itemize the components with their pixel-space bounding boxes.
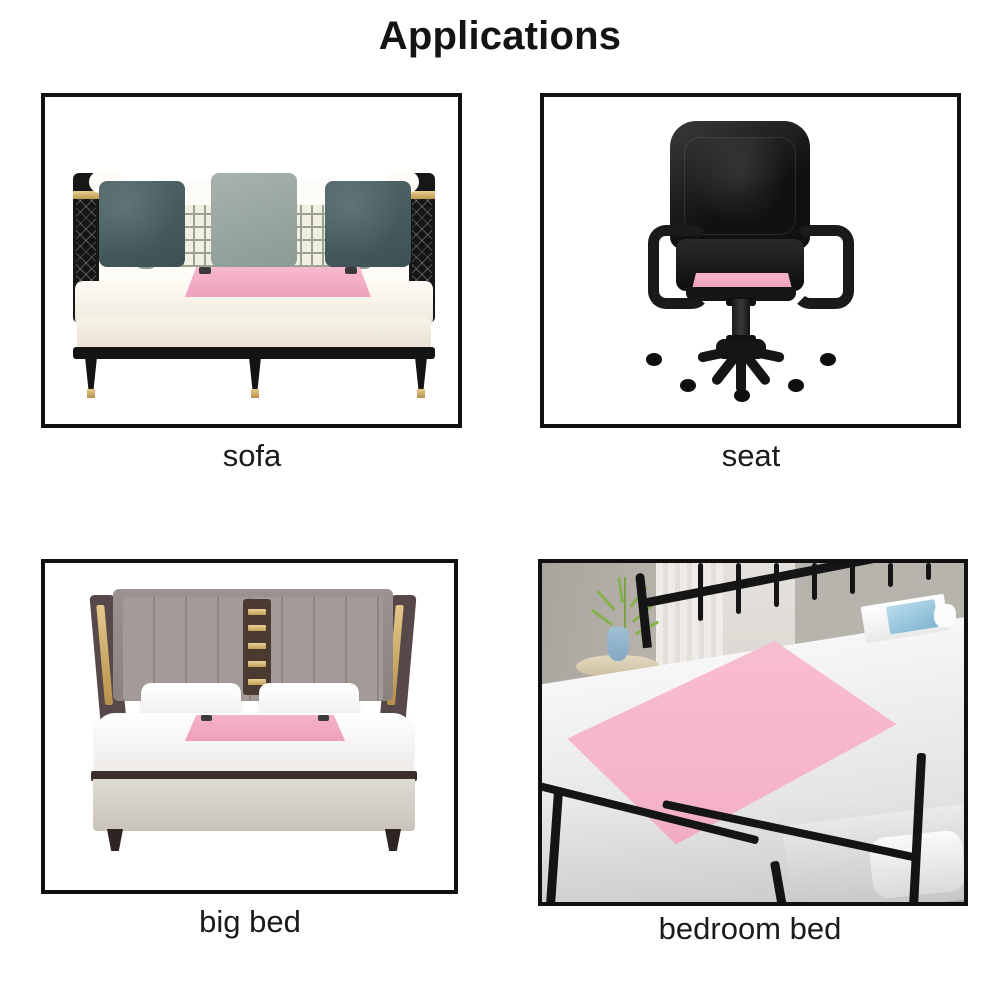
panel-bedroom-bed: bedroom bed bbox=[538, 559, 962, 959]
book-page-image bbox=[886, 600, 939, 635]
panel-big-bed: big bed bbox=[41, 559, 459, 959]
caption-seat: seat bbox=[540, 438, 962, 474]
chair-scene bbox=[544, 97, 957, 424]
big-bed-illustration bbox=[73, 589, 433, 839]
chair-caster-1 bbox=[646, 353, 662, 366]
panel-bedroom-bed-frame bbox=[538, 559, 968, 906]
bed-scene bbox=[45, 563, 454, 890]
chair-caster-4 bbox=[788, 379, 804, 392]
bed-headboard-ornament bbox=[243, 599, 271, 695]
bed-ornament-bar-4 bbox=[248, 661, 266, 667]
plant-leaf-1 bbox=[596, 590, 616, 611]
bunk-rail-bar-2 bbox=[736, 563, 741, 614]
sofa-leg-1 bbox=[85, 357, 97, 391]
panel-seat: seat bbox=[540, 93, 962, 493]
panel-seat-frame bbox=[540, 93, 961, 428]
sofa-leg-2 bbox=[249, 357, 261, 391]
chair-armrest-right bbox=[792, 225, 854, 309]
bed-base-frame bbox=[93, 779, 415, 831]
bed-ornament-bar-3 bbox=[248, 643, 266, 649]
infographic-page: Applications bbox=[0, 0, 1000, 1000]
sofa-pink-mat bbox=[185, 267, 371, 297]
sofa-pillow-teal-right bbox=[325, 181, 411, 267]
sofa-mat-clip-left bbox=[199, 267, 211, 274]
bed-pink-mat bbox=[185, 715, 345, 741]
sofa-foot-2 bbox=[251, 389, 259, 398]
vase bbox=[607, 627, 628, 661]
bed-mat-clip-right bbox=[318, 715, 329, 721]
bed-ornament-bar-2 bbox=[248, 625, 266, 631]
panel-sofa: sofa bbox=[41, 93, 463, 493]
office-chair-illustration bbox=[640, 121, 840, 393]
bedroom-photo-scene bbox=[542, 563, 964, 902]
bunk-rail-bar-3 bbox=[774, 563, 779, 607]
bed-wing-gold-left bbox=[96, 605, 113, 705]
panel-sofa-frame bbox=[41, 93, 462, 428]
sofa-illustration bbox=[63, 131, 445, 381]
sofa-leg-3 bbox=[415, 357, 427, 391]
bed-leg-right bbox=[385, 829, 401, 851]
sofa-gold-accent-right bbox=[409, 191, 435, 199]
sofa-scene bbox=[45, 97, 458, 424]
caption-sofa: sofa bbox=[41, 438, 463, 474]
cup bbox=[934, 604, 955, 628]
caption-bedroom-bed: bedroom bed bbox=[538, 911, 962, 947]
sofa-pillow-center bbox=[211, 173, 297, 267]
bunk-rail-bar-1 bbox=[698, 563, 703, 621]
chair-caster-3 bbox=[734, 389, 750, 402]
bed-mat-clip-left bbox=[201, 715, 212, 721]
plant-leaf-5 bbox=[617, 577, 624, 603]
sofa-pillow-teal-left bbox=[99, 181, 185, 267]
bunk-rail-bar-4 bbox=[812, 563, 817, 600]
chair-caster-2 bbox=[680, 379, 696, 392]
bed-ornament-bar-1 bbox=[248, 609, 266, 615]
page-title: Applications bbox=[0, 14, 1000, 59]
bunk-rail-bar-7 bbox=[926, 563, 931, 580]
caption-big-bed: big bed bbox=[41, 904, 459, 940]
sofa-foot-3 bbox=[417, 389, 425, 398]
sofa-seat-base-cushion bbox=[77, 317, 431, 351]
chair-caster-5 bbox=[820, 353, 836, 366]
bed-leg-left bbox=[107, 829, 123, 851]
chair-backrest-tufting bbox=[684, 137, 796, 235]
sofa-mat-clip-right bbox=[345, 267, 357, 274]
sofa-foot-1 bbox=[87, 389, 95, 398]
panel-big-bed-frame bbox=[41, 559, 458, 894]
bunk-rail-bar-5 bbox=[850, 563, 855, 594]
bunk-rail-bar-6 bbox=[888, 563, 893, 587]
bedroom-photo bbox=[542, 563, 964, 902]
